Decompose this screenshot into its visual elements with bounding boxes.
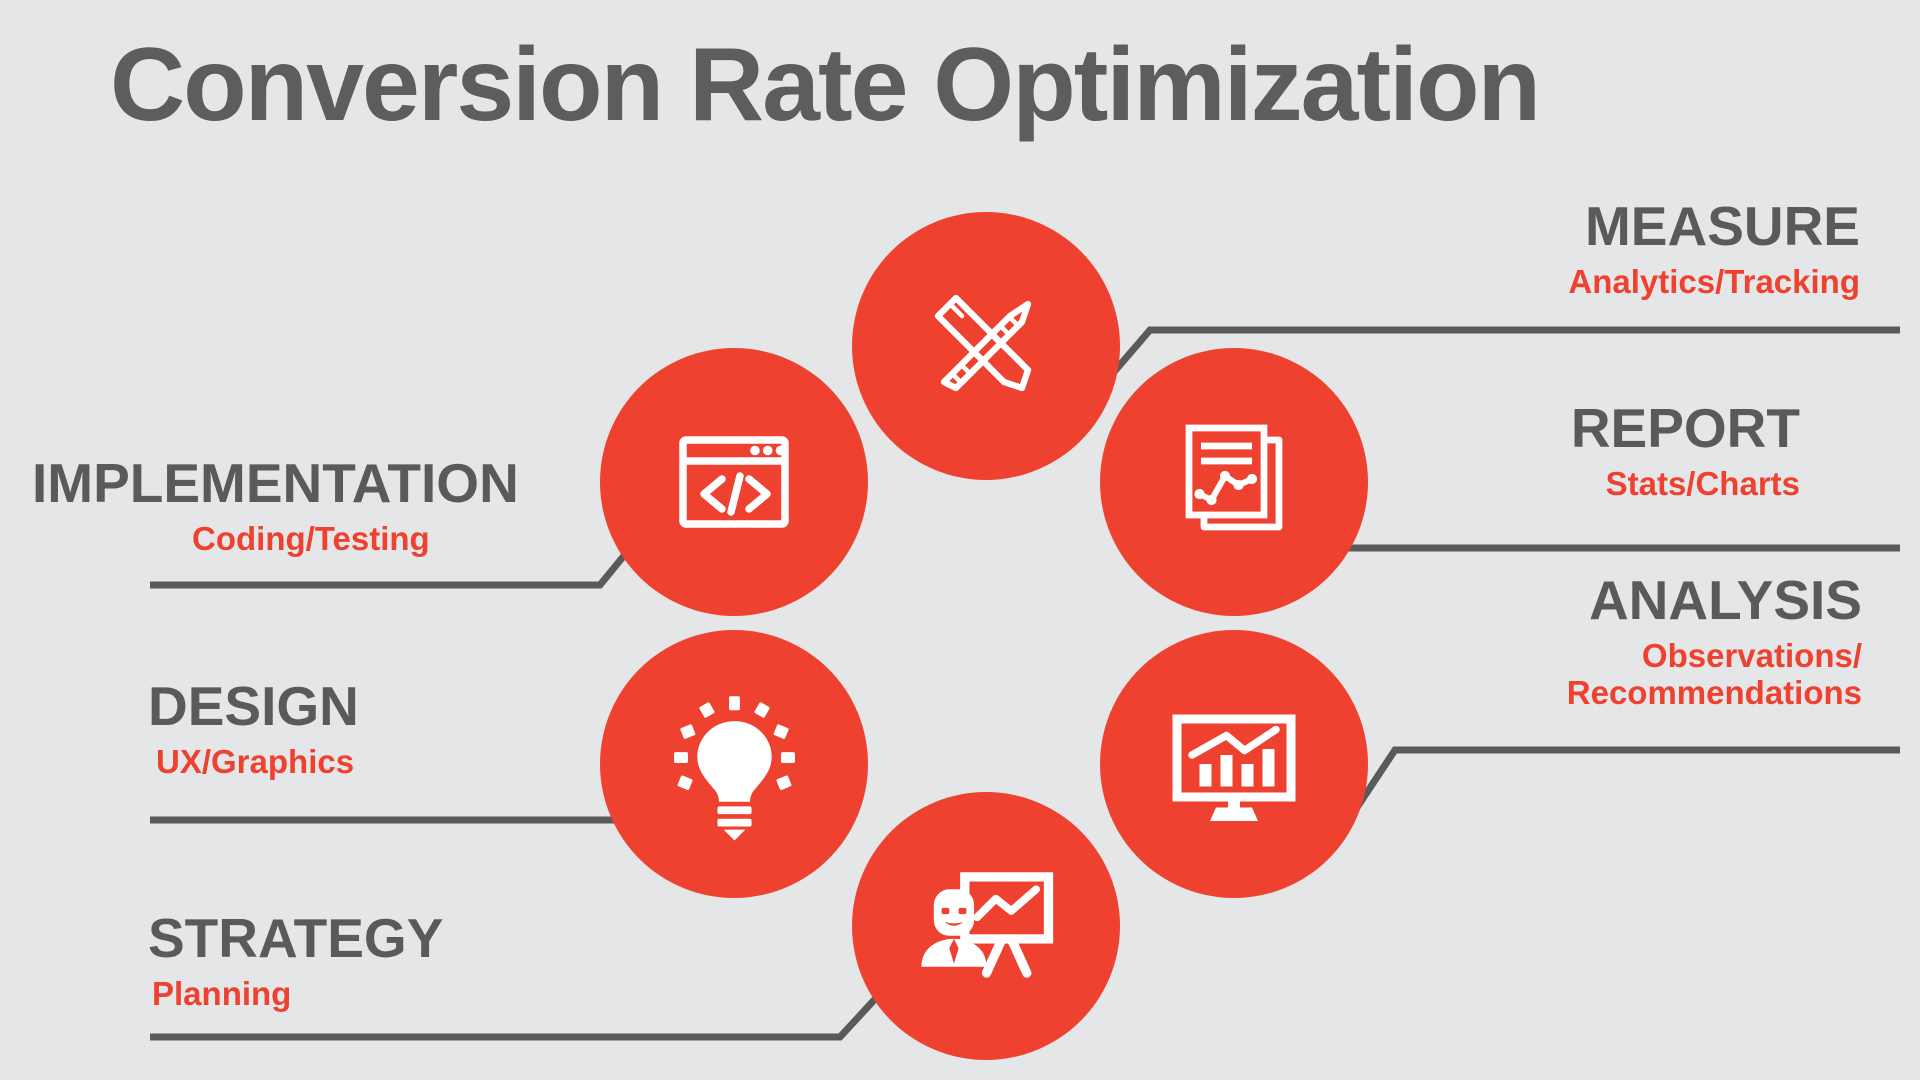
label-report-subtitle: Stats/Charts — [1571, 466, 1800, 503]
label-measure-title: MEASURE — [1568, 198, 1860, 256]
label-analysis: ANALYSIS Observations/ Recommendations — [1567, 572, 1862, 712]
step-circle-analysis[interactable] — [1100, 630, 1368, 898]
documents-report-icon — [1159, 407, 1309, 557]
label-measure: MEASURE Analytics/Tracking — [1568, 198, 1860, 301]
label-implementation-subtitle: Coding/Testing — [32, 521, 519, 558]
label-report: REPORT Stats/Charts — [1571, 400, 1800, 503]
label-design-subtitle: UX/Graphics — [148, 744, 359, 781]
label-strategy: STRATEGY Planning — [148, 910, 443, 1013]
connector-analysis — [1352, 750, 1900, 815]
label-implementation-title: IMPLEMENTATION — [32, 455, 519, 513]
step-circle-strategy[interactable] — [852, 792, 1120, 1060]
step-circle-design[interactable] — [600, 630, 868, 898]
label-design: DESIGN UX/Graphics — [148, 678, 359, 781]
step-circle-measure[interactable] — [852, 212, 1120, 480]
pencil-ruler-icon — [911, 271, 1061, 421]
label-analysis-title: ANALYSIS — [1567, 572, 1862, 630]
monitor-chart-icon — [1159, 689, 1309, 839]
label-design-title: DESIGN — [148, 678, 359, 736]
code-window-icon — [659, 407, 809, 557]
lightbulb-icon — [657, 687, 812, 842]
label-implementation: IMPLEMENTATION Coding/Testing — [32, 455, 519, 558]
label-analysis-subtitle-line2: Recommendations — [1567, 675, 1862, 712]
infographic-canvas: Conversion Rate Optimization — [0, 0, 1920, 1080]
label-strategy-subtitle: Planning — [148, 976, 443, 1013]
presenter-board-icon — [909, 849, 1064, 1004]
label-strategy-title: STRATEGY — [148, 910, 443, 968]
label-analysis-subtitle-line1: Observations/ — [1567, 638, 1862, 675]
label-report-title: REPORT — [1571, 400, 1800, 458]
label-measure-subtitle: Analytics/Tracking — [1568, 264, 1860, 301]
step-circle-report[interactable] — [1100, 348, 1368, 616]
step-circle-implementation[interactable] — [600, 348, 868, 616]
